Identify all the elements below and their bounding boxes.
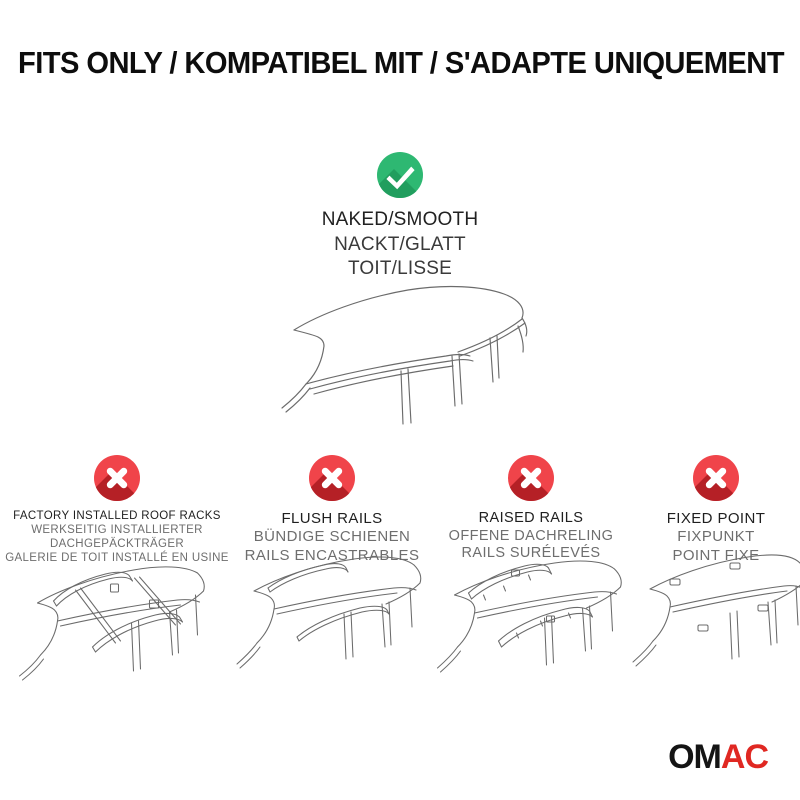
omac-logo: OMAC xyxy=(668,740,768,774)
cross-circle-icon xyxy=(508,455,554,501)
cross-glyph xyxy=(94,455,140,501)
cross-circle-icon xyxy=(693,455,739,501)
logo-text-dark: OM xyxy=(668,738,721,776)
compatible-label-line-2: NACKT/GLATT xyxy=(322,233,479,258)
cross-glyph xyxy=(309,455,355,501)
incompatible-label-line-2: WERKSEITIG INSTALLIERTER xyxy=(5,524,229,538)
incompatible-item-factory-roof-racks: FACTORY INSTALLED ROOF RACKS WERKSEITIG … xyxy=(0,455,234,566)
page-title-text: FITS ONLY / KOMPATIBEL MIT / S'ADAPTE UN… xyxy=(18,46,784,81)
cross-glyph xyxy=(508,455,554,501)
flush-rails-line-drawing xyxy=(232,543,432,688)
incompatible-label-line-1: RAISED RAILS xyxy=(449,510,614,528)
flush-rails-illustration xyxy=(232,543,432,688)
compatibility-chart-page: FITS ONLY / KOMPATIBEL MIT / S'ADAPTE UN… xyxy=(0,0,800,800)
incompatible-item-raised-rails: RAISED RAILS OFFENE DACHRELING RAILS SUR… xyxy=(430,455,632,563)
factory-roof-rack-illustration xyxy=(10,543,225,688)
incompatible-item-fixed-point: FIXED POINT FIXPUNKT POINT FIXE xyxy=(632,455,800,565)
compatible-section: NAKED/SMOOTH NACKT/GLATT TOIT/LISSE xyxy=(0,152,800,282)
incompatible-item-flush-rails: FLUSH RAILS BÜNDIGE SCHIENEN RAILS ENCAS… xyxy=(234,455,430,565)
page-title: FITS ONLY / KOMPATIBEL MIT / S'ADAPTE UN… xyxy=(0,46,800,81)
cross-circle-icon xyxy=(309,455,355,501)
check-glyph xyxy=(377,152,423,198)
compatible-labels: NAKED/SMOOTH NACKT/GLATT TOIT/LISSE xyxy=(322,208,479,282)
fixed-point-line-drawing xyxy=(626,543,800,688)
incompatible-label-line-1: FLUSH RAILS xyxy=(245,510,420,528)
factory-roof-rack-line-drawing xyxy=(10,543,225,688)
cross-circle-icon xyxy=(94,455,140,501)
incompatible-label-line-1: FIXED POINT xyxy=(667,510,766,528)
check-circle-icon xyxy=(377,152,423,198)
smooth-roof-illustration xyxy=(250,278,570,428)
incompatible-label-line-1: FACTORY INSTALLED ROOF RACKS xyxy=(5,510,229,524)
smooth-roof-line-drawing xyxy=(250,278,570,428)
raised-rails-line-drawing xyxy=(429,543,634,688)
cross-glyph xyxy=(693,455,739,501)
incompatible-section: FACTORY INSTALLED ROOF RACKS WERKSEITIG … xyxy=(0,455,800,566)
logo-text-red: AC xyxy=(721,738,768,776)
compatible-label-line-1: NAKED/SMOOTH xyxy=(322,208,479,233)
fixed-point-illustration xyxy=(626,543,800,688)
raised-rails-illustration xyxy=(429,543,634,688)
